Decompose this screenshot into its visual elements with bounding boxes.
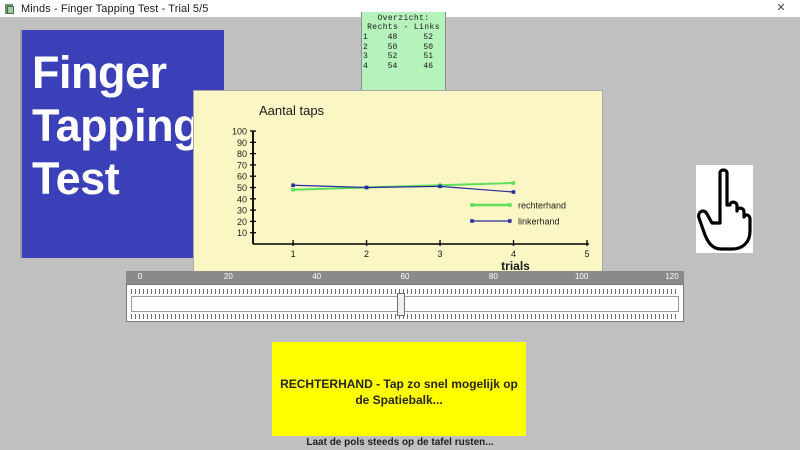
ruler-tick-label: 60 [401,272,410,281]
ruler-ticks-bottom [131,314,679,319]
hand-glyph [696,165,753,253]
ruler-scale: 020406080100120 [126,271,684,284]
window-title: Minds - Finger Tapping Test - Trial 5/5 [21,3,209,15]
row-links: 50 [407,43,445,53]
table-row: 1 48 52 [362,33,445,43]
overview-header: Rechts - Links [362,23,445,32]
legend-marker [470,219,474,223]
chart-title: Aantal taps [259,103,325,118]
data-point [512,190,516,194]
y-tick-label: 40 [237,194,247,204]
ruler-tick-label: 100 [575,272,588,281]
instruction-text: RECHTERHAND - Tap zo snel mogelijk op de… [272,376,526,408]
data-point [291,183,295,187]
x-tick-label: 1 [291,249,296,259]
ruler-tick-label: 120 [665,272,678,281]
table-row: 3 52 51 [362,52,445,62]
taps-line-chart: 10203040506070809010012345Aantal tapstri… [194,91,602,284]
legend-label: rechterhand [518,201,566,211]
legend-label: linkerhand [518,217,560,227]
close-icon[interactable]: ✕ [770,1,792,16]
ruler-tick-label: 40 [312,272,321,281]
overview-table: 1 48 52 2 50 50 3 52 51 4 54 46 [362,33,445,71]
overview-title: Overzicht: [362,12,445,23]
footer-note: Laat de pols steeds op de tafel rusten..… [0,437,800,448]
app-body: Finger Tapping Test Overzicht: Rechts - … [0,17,800,450]
row-rechts: 54 [373,62,407,72]
y-tick-label: 90 [237,138,247,148]
row-rechts: 52 [373,52,407,62]
slider-thumb[interactable] [397,293,405,316]
row-links: 51 [407,52,445,62]
row-rechts: 50 [373,43,407,53]
overview-panel: Overzicht: Rechts - Links 1 48 52 2 50 5… [361,12,446,93]
x-tick-label: 5 [584,249,589,259]
table-row: 4 54 46 [362,62,445,72]
row-index: 3 [362,52,373,62]
y-tick-label: 20 [237,217,247,227]
brand-line-1: Finger [32,30,224,99]
pointing-hand-icon [696,165,753,253]
table-row: 2 50 50 [362,43,445,53]
y-tick-label: 50 [237,183,247,193]
minds-app-icon [4,3,16,15]
legend-marker [508,219,512,223]
row-index: 4 [362,62,373,72]
ruler-tick-label: 0 [138,272,142,281]
data-point [365,186,369,190]
chart-panel: 10203040506070809010012345Aantal tapstri… [193,90,603,285]
x-tick-label: 3 [438,249,443,259]
timer-ruler: 020406080100120 [126,271,684,329]
row-links: 46 [407,62,445,72]
data-point [291,188,295,192]
y-tick-label: 30 [237,206,247,216]
row-index: 1 [362,33,373,43]
x-tick-label: 2 [364,249,369,259]
slider-track[interactable] [131,296,679,312]
row-index: 2 [362,43,373,53]
tap-slider[interactable] [126,284,684,322]
instruction-box: RECHTERHAND - Tap zo snel mogelijk op de… [272,342,526,436]
ruler-tick-label: 20 [224,272,233,281]
row-rechts: 48 [373,33,407,43]
y-tick-label: 100 [232,127,247,137]
y-tick-label: 70 [237,160,247,170]
legend-marker [470,203,474,207]
row-links: 52 [407,33,445,43]
legend-marker [508,203,512,207]
ruler-tick-label: 80 [489,272,498,281]
ruler-ticks-top [131,289,679,294]
x-tick-label: 4 [511,249,516,259]
data-point [512,181,516,185]
y-tick-label: 60 [237,172,247,182]
data-point [438,185,442,189]
y-tick-label: 80 [237,149,247,159]
y-tick-label: 10 [237,228,247,238]
